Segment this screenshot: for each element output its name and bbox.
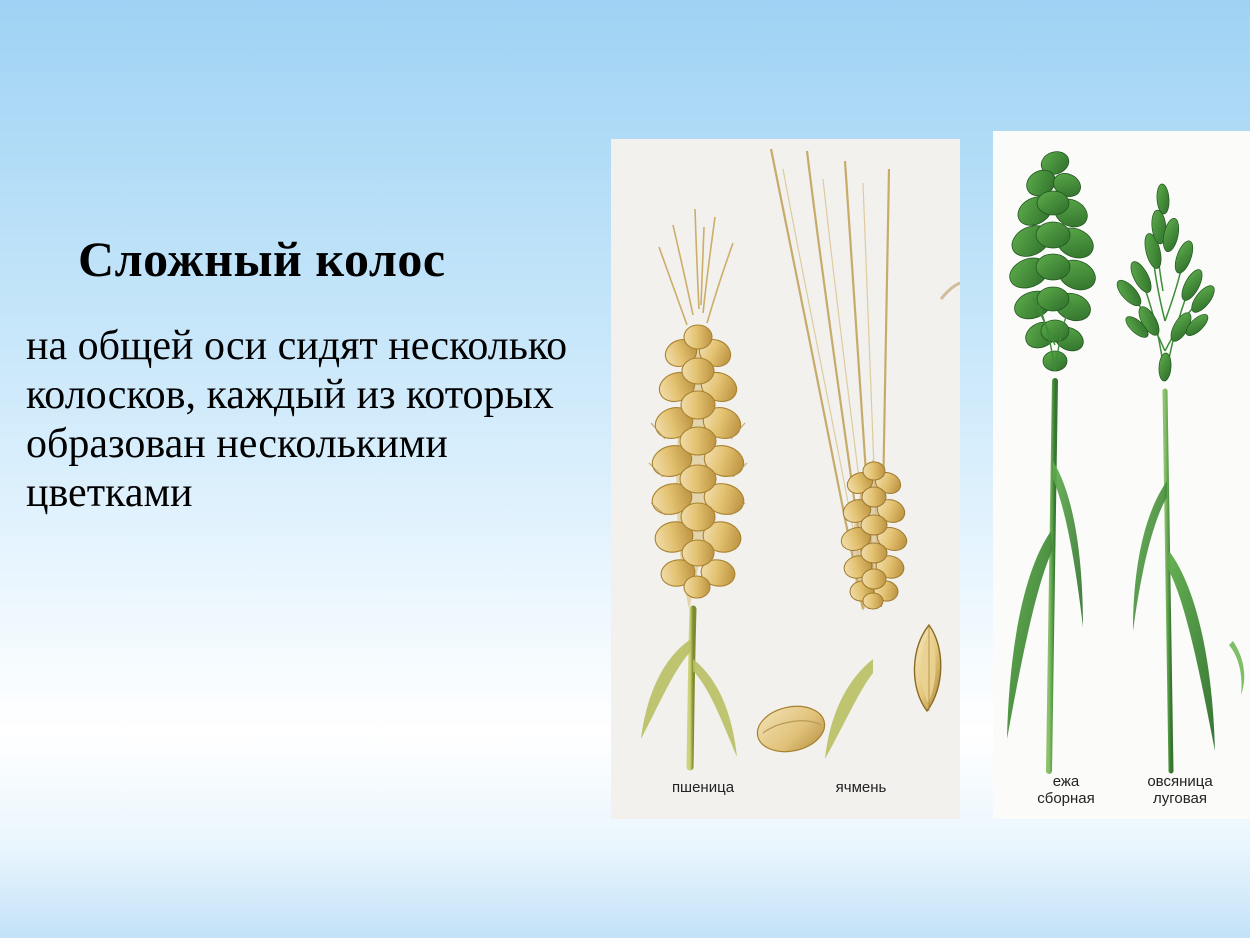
wheat-spike <box>649 325 748 609</box>
caption-barley: ячмень <box>791 779 931 796</box>
grasses-illustration <box>993 131 1250 819</box>
dactylis-plant <box>1005 148 1100 771</box>
barley-spike <box>838 459 909 611</box>
slide: Сложный колос на общей оси сидят несколь… <box>0 0 1250 938</box>
page-title: Сложный колос <box>78 230 446 288</box>
figure-cereals: пшеница ячмень <box>611 139 960 819</box>
caption-dactylis-text: ежа сборная <box>1037 773 1095 807</box>
barley-plant <box>771 149 960 769</box>
barley-grain <box>914 625 940 711</box>
cereals-illustration <box>611 139 960 819</box>
slide-body-text: на общей оси сидят несколько колосков, к… <box>26 322 616 519</box>
caption-dactylis: ежа сборная <box>1011 773 1121 808</box>
wheat-grain <box>753 700 829 757</box>
festuca-plant <box>1113 184 1244 771</box>
caption-festuca-text: овсяница луговая <box>1147 773 1212 807</box>
caption-festuca: овсяница луговая <box>1121 773 1239 808</box>
figure-grasses: ежа сборная овсяница луговая <box>993 131 1250 819</box>
caption-wheat: пшеница <box>633 779 773 796</box>
